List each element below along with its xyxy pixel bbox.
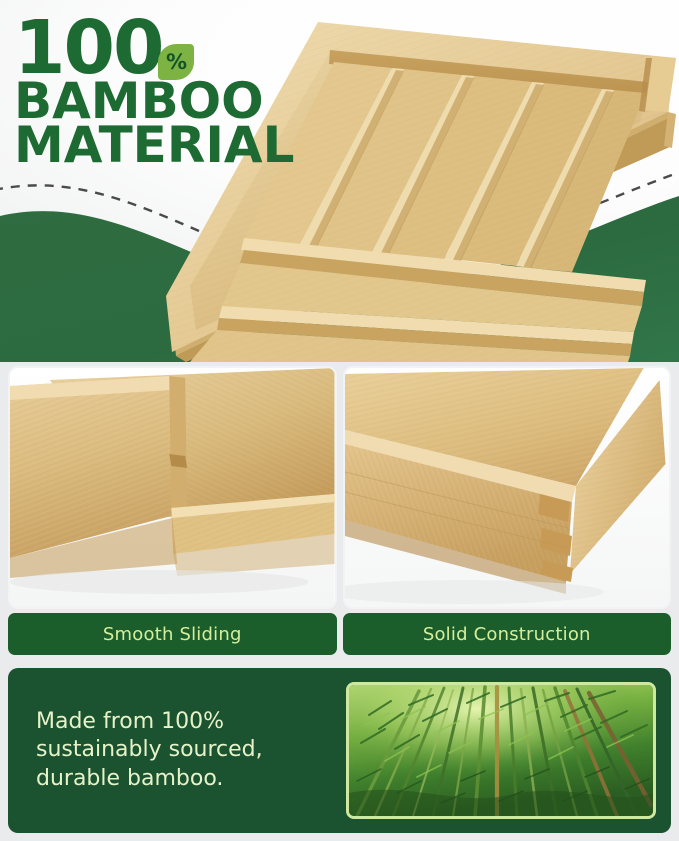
headline-material: MATERIAL <box>14 122 314 168</box>
dovetail-joint <box>538 494 573 582</box>
caption-bar-row: Smooth Sliding Solid Construction <box>8 613 671 655</box>
bamboo-forest-photo <box>346 682 656 819</box>
caption-smooth-sliding: Smooth Sliding <box>8 613 337 655</box>
photo-card-solid-construction <box>343 366 672 609</box>
sustainability-panel: Made from 100% sustainably sourced, dura… <box>8 668 671 833</box>
detail-photo-row <box>8 366 671 609</box>
caption-solid-construction: Solid Construction <box>343 613 672 655</box>
smooth-sliding-photo <box>10 368 335 607</box>
hero-section: 100 % BAMBOO MATERIAL <box>0 0 679 362</box>
product-marketing-image: 100 % BAMBOO MATERIAL <box>0 0 679 841</box>
photo-card-smooth-sliding <box>8 366 337 609</box>
headline-block: 100 % BAMBOO MATERIAL <box>14 14 314 168</box>
sustainability-text: Made from 100% sustainably sourced, dura… <box>8 708 338 792</box>
solid-construction-photo <box>345 368 670 607</box>
